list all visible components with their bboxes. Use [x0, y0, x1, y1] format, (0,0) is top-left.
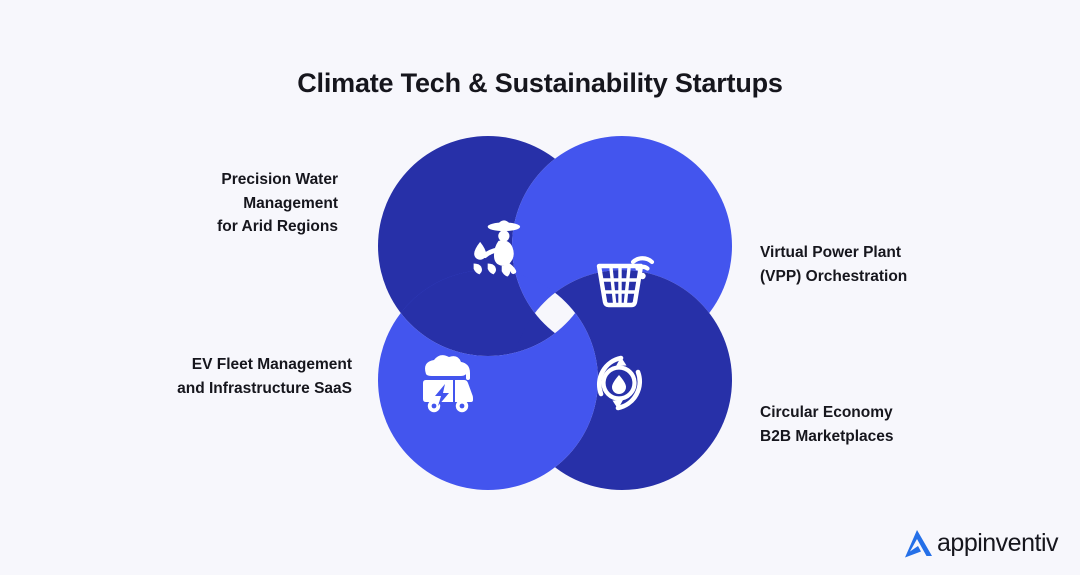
label-line: Management — [108, 192, 338, 216]
infographic-canvas: Climate Tech & Sustainability Startups — [0, 0, 1080, 575]
venn-circle-ev-fleet[interactable] — [378, 270, 598, 490]
label-circular-economy: Circular Economy B2B Marketplaces — [760, 401, 1010, 448]
label-ev-fleet-management: EV Fleet Management and Infrastructure S… — [102, 353, 352, 400]
label-line: EV Fleet Management — [102, 353, 352, 377]
page-title: Climate Tech & Sustainability Startups — [0, 68, 1080, 99]
label-line: Precision Water — [108, 168, 338, 192]
label-precision-water: Precision Water Management for Arid Regi… — [108, 168, 338, 239]
label-line: for Arid Regions — [108, 215, 338, 239]
label-line: (VPP) Orchestration — [760, 265, 1010, 289]
label-line: and Infrastructure SaaS — [102, 377, 352, 401]
label-line: Circular Economy — [760, 401, 1010, 425]
appinventiv-a-mark-icon — [901, 527, 935, 559]
venn-diagram — [360, 118, 750, 508]
label-line: B2B Marketplaces — [760, 425, 1010, 449]
brand-logo: appinventiv — [901, 527, 1058, 559]
brand-name: appinventiv — [937, 531, 1058, 556]
label-virtual-power-plant: Virtual Power Plant (VPP) Orchestration — [760, 241, 1010, 288]
label-line: Virtual Power Plant — [760, 241, 1010, 265]
